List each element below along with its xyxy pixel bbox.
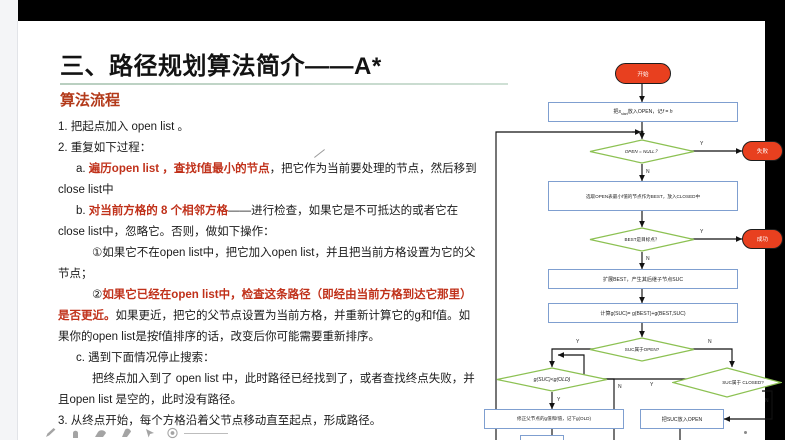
body-paragraph: c. 遇到下面情况停止搜索： [58, 348, 478, 369]
flow-node-fix-parent-label: 修正父节点的g值和f值，记下g(OLD) [517, 416, 591, 422]
toolbar-divider [184, 433, 228, 434]
body-paragraph: a. 遍历open list ，查找f值最小的节点，把它作为当前要处理的节点，然… [58, 159, 478, 201]
body-paragraph: b. 对当前方格的 8 个相邻方格——进行检查，如果它是不可抵达的或者它在clo… [58, 201, 478, 243]
edge-label-suc-closed-yes: Y [650, 382, 653, 388]
flowchart: 开始 把sstart放入OPEN，记f = h OPEN = NULL？ 失败 … [484, 57, 783, 440]
highlighter-icon[interactable] [94, 426, 108, 440]
flow-node-open-null-label: OPEN = NULL？ [589, 139, 695, 164]
plain-text: ①如果它不在open list中，把它加入open list，并且把当前方格设置… [58, 247, 475, 280]
flow-node-best-goal-label: BEST是目标点？ [589, 227, 695, 252]
screenshot-root: 三、路径规划算法简介——A* 算法流程 1. 把起点加入 open list 。… [0, 0, 785, 440]
flow-node-suc-in-open: SUC属于OPEN? [589, 337, 695, 362]
pen-icon[interactable] [44, 426, 57, 440]
window-left-gutter [0, 0, 18, 440]
edge-label-suc-open-yes: Y [576, 339, 579, 345]
flow-node-start-label: 开始 [637, 70, 648, 78]
edge-label-suc-open-no: N [708, 339, 712, 345]
slide-surface: 三、路径规划算法简介——A* 算法流程 1. 把起点加入 open list 。… [18, 21, 765, 440]
flow-node-fail: 失败 [742, 141, 783, 161]
flow-node-expand: 扩展BEST，产生其后继子节点SUC [548, 269, 738, 289]
flow-node-start: 开始 [615, 63, 671, 84]
window-top-bar [18, 0, 765, 21]
flow-node-expand-label: 扩展BEST，产生其后继子节点SUC [603, 276, 683, 283]
flow-node-g-less-label: g(SUC)<g(OLD) [496, 367, 608, 392]
edge-label-best-goal-yes: Y [700, 229, 703, 235]
toolbar-overflow-dot[interactable] [744, 431, 747, 434]
title-underline [60, 83, 508, 85]
flow-node-init-label: 把sstart放入OPEN，记f = h [613, 108, 672, 116]
flow-node-open-null: OPEN = NULL？ [589, 139, 695, 164]
section-heading: 算法流程 [60, 89, 120, 110]
flow-node-success-label: 成功 [757, 235, 768, 243]
plain-text: 1. 把起点加入 open list 。 [58, 121, 189, 133]
flow-node-pick-best-label: 选取OPEN表最小f值的节点作为BEST，放入CLOSED中 [586, 192, 700, 201]
body-paragraph: 把终点加入到了 open list 中，此时路径已经找到了，或者查找终点失败，并… [58, 369, 478, 411]
pointer-icon[interactable] [120, 426, 133, 440]
plain-text: 2. 重复如下过程： [58, 142, 151, 154]
eraser-icon[interactable] [70, 426, 81, 440]
flow-node-suc-in-open-label: SUC属于OPEN? [589, 337, 695, 362]
plain-text: a. [76, 163, 89, 175]
flow-node-pick-best: 选取OPEN表最小f值的节点作为BEST，放入CLOSED中 [548, 181, 738, 211]
page-title: 三、路径规划算法简介——A* [60, 46, 382, 81]
edge-label-suc-closed-no: N [765, 398, 769, 404]
edge-label-g-less-no: N [618, 384, 622, 390]
flow-node-fail-label: 失败 [757, 147, 768, 155]
flow-node-suc-in-closed: SUC属于 CLOSED? [672, 367, 782, 398]
cursor-icon[interactable] [144, 426, 156, 440]
body-paragraph: ②如果它已经在open list中，检查这条路径（即经由当前方格到达它那里）是否… [58, 285, 478, 348]
ink-stroke-annotation [313, 149, 327, 159]
plain-text: b. [76, 205, 89, 217]
edge-label-best-goal-no: N [646, 256, 650, 262]
plain-text: 把终点加入到了 open list 中，此时路径已经找到了，或者查找终点失败，并… [58, 373, 475, 406]
plain-text: c. 遇到下面情况停止搜索： [76, 352, 215, 364]
highlighted-text: 遍历open list ，查找f值最小的节点 [89, 163, 270, 175]
flow-node-push-open-label: 把SUC放入OPEN [662, 416, 702, 423]
edge-label-open-null-yes: Y [700, 141, 703, 147]
body-paragraph: 2. 重复如下过程： [58, 138, 478, 159]
flow-node-suc-in-closed-label: SUC属于 CLOSED? [672, 367, 785, 398]
annotation-toolbar[interactable] [18, 424, 765, 440]
slide-body-text: 1. 把起点加入 open list 。2. 重复如下过程：a. 遍历open … [58, 117, 478, 432]
edge-label-g-less-yes: Y [557, 397, 560, 403]
plain-text: 如果更近，把它的父节点设置为当前方格，并重新计算它的g和f值。如果你的open … [58, 310, 470, 343]
plain-text: ② [92, 289, 102, 301]
flow-node-calc-g: 计算g(SUC)= g(BEST)+g(BEST,SUC) [548, 303, 738, 323]
flow-node-calc-g-label: 计算g(SUC)= g(BEST)+g(BEST,SUC) [600, 310, 685, 317]
laser-icon[interactable] [166, 426, 179, 440]
body-paragraph: 1. 把起点加入 open list 。 [58, 117, 478, 138]
flow-node-g-less: g(SUC)<g(OLD) [496, 367, 608, 392]
body-paragraph: ①如果它不在open list中，把它加入open list，并且把当前方格设置… [58, 243, 478, 285]
flow-node-best-goal: BEST是目标点？ [589, 227, 695, 252]
flow-node-init: 把sstart放入OPEN，记f = h [548, 102, 738, 122]
highlighted-text: 对当前方格的 8 个相邻方格 [89, 205, 228, 217]
flow-node-success: 成功 [742, 229, 783, 249]
edge-label-open-null-no: N [646, 169, 650, 175]
